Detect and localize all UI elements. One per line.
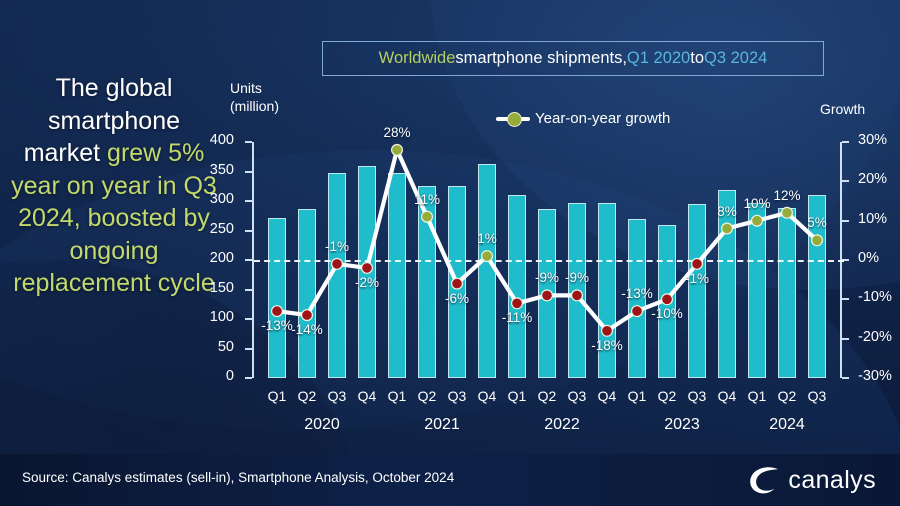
- legend-label: Year-on-year growth: [535, 110, 670, 127]
- y-tick-left: [245, 259, 252, 261]
- y-tick-label-left: 0: [188, 368, 234, 384]
- growth-point: [482, 251, 493, 262]
- chart-canvas: The global smartphone market grew 5% yea…: [0, 0, 900, 506]
- x-tick-label-quarter: Q4: [598, 388, 617, 404]
- x-tick-label-quarter: Q2: [538, 388, 557, 404]
- legend-line-marker-icon: [496, 117, 530, 121]
- canalys-wordmark: canalys: [788, 466, 876, 495]
- growth-point: [602, 325, 613, 336]
- y-tick-right: [842, 338, 849, 340]
- growth-data-label: -13%: [621, 286, 653, 301]
- growth-point: [362, 263, 373, 274]
- y-tick-label-left: 100: [188, 309, 234, 325]
- growth-point: [752, 215, 763, 226]
- y-tick-left: [245, 141, 252, 143]
- growth-data-label: -6%: [445, 291, 469, 306]
- x-tick-label-quarter: Q2: [658, 388, 677, 404]
- y-tick-label-left: 200: [188, 250, 234, 266]
- source-note: Source: Canalys estimates (sell-in), Sma…: [22, 470, 454, 485]
- y-tick-label-left: 300: [188, 191, 234, 207]
- plot-area: 050100150200250300350400 -30%-20%-10%0%1…: [262, 142, 832, 378]
- growth-point: [782, 207, 793, 218]
- y-tick-label-right: 10%: [858, 211, 900, 227]
- x-tick-label-quarter: Q3: [688, 388, 707, 404]
- x-axis-year-label: 2022: [544, 416, 580, 434]
- chart-legend: Year-on-year growth: [496, 110, 670, 127]
- x-tick-label-quarter: Q3: [328, 388, 347, 404]
- title-part-start-quarter: Q1 2020: [627, 49, 690, 68]
- canalys-logo: canalys: [747, 465, 876, 495]
- title-part-main: smartphone shipments,: [455, 49, 627, 68]
- title-part-worldwide: Worldwide: [379, 49, 456, 68]
- y-tick-left: [245, 289, 252, 291]
- y-tick-left: [245, 230, 252, 232]
- y-tick-label-left: 250: [188, 221, 234, 237]
- growth-data-label: -9%: [565, 270, 589, 285]
- x-tick-label-quarter: Q4: [358, 388, 377, 404]
- y-tick-label-right: 20%: [858, 171, 900, 187]
- x-tick-label-quarter: Q4: [718, 388, 737, 404]
- growth-point: [662, 294, 673, 305]
- x-tick-label-quarter: Q3: [448, 388, 467, 404]
- growth-data-label: 28%: [383, 125, 410, 140]
- x-axis-year-label: 2023: [664, 416, 700, 434]
- chart-title: Worldwide smartphone shipments, Q1 2020 …: [322, 41, 824, 76]
- x-axis-year-label: 2021: [424, 416, 460, 434]
- growth-point: [512, 298, 523, 309]
- growth-data-label: -2%: [355, 275, 379, 290]
- growth-point: [452, 278, 463, 289]
- growth-point: [272, 306, 283, 317]
- growth-data-label: -18%: [591, 338, 623, 353]
- units-line-1: Units: [230, 80, 279, 98]
- growth-data-label: 11%: [414, 192, 440, 207]
- x-tick-label-quarter: Q3: [568, 388, 587, 404]
- units-line-2: (million): [230, 98, 279, 116]
- growth-point: [332, 259, 343, 270]
- growth-point: [692, 259, 703, 270]
- growth-point: [812, 235, 823, 246]
- canalys-mark-icon: [747, 465, 781, 495]
- growth-data-label: -9%: [535, 270, 559, 285]
- x-tick-label-quarter: Q1: [748, 388, 767, 404]
- growth-point: [542, 290, 553, 301]
- y-tick-right: [842, 220, 849, 222]
- y-tick-label-right: -20%: [858, 329, 900, 345]
- y-tick-right: [842, 141, 849, 143]
- y-tick-label-left: 150: [188, 280, 234, 296]
- growth-point: [302, 310, 313, 321]
- x-axis-year-label: 2024: [769, 416, 805, 434]
- growth-point: [422, 211, 433, 222]
- x-tick-label-quarter: Q4: [478, 388, 497, 404]
- growth-polyline: [277, 150, 817, 331]
- growth-line-series: [262, 142, 832, 378]
- y-tick-right: [842, 377, 849, 379]
- x-tick-label-quarter: Q1: [508, 388, 527, 404]
- y-tick-label-right: 0%: [858, 250, 900, 266]
- y-tick-right: [842, 180, 849, 182]
- y-tick-label-right: -10%: [858, 289, 900, 305]
- y-axis-caption-right: Growth: [820, 101, 865, 117]
- growth-point: [722, 223, 733, 234]
- growth-data-label: 12%: [773, 188, 800, 203]
- y-tick-left: [245, 377, 252, 379]
- y-tick-left: [245, 171, 252, 173]
- growth-data-label: -14%: [291, 322, 323, 337]
- y-tick-left: [245, 348, 252, 350]
- x-tick-label-quarter: Q1: [628, 388, 647, 404]
- x-tick-label-quarter: Q2: [418, 388, 437, 404]
- x-tick-label-quarter: Q1: [268, 388, 287, 404]
- growth-point: [632, 306, 643, 317]
- growth-data-label: 5%: [807, 215, 827, 230]
- y-tick-label-right: -30%: [858, 368, 900, 384]
- growth-data-label: -1%: [325, 239, 349, 254]
- title-part-end-quarter: Q3 2024: [704, 49, 767, 68]
- title-part-to: to: [690, 49, 704, 68]
- y-tick-label-left: 50: [188, 339, 234, 355]
- y-tick-right: [842, 298, 849, 300]
- y-tick-left: [245, 200, 252, 202]
- y-axis-caption-left: Units (million): [230, 80, 279, 116]
- y-tick-label-left: 350: [188, 162, 234, 178]
- growth-data-label: -10%: [651, 306, 683, 321]
- growth-point: [392, 145, 403, 156]
- growth-data-label: 1%: [477, 231, 497, 246]
- x-tick-label-quarter: Q2: [778, 388, 797, 404]
- y-tick-label-left: 400: [188, 132, 234, 148]
- growth-data-label: -1%: [685, 271, 709, 286]
- growth-data-label: -11%: [502, 310, 533, 325]
- x-axis: Q1Q2Q3Q4Q1Q2Q3Q4Q1Q2Q3Q4Q1Q2Q3Q4Q1Q2Q320…: [262, 380, 832, 381]
- y-tick-left: [245, 318, 252, 320]
- x-axis-year-label: 2020: [304, 416, 340, 434]
- growth-data-label: -13%: [261, 318, 293, 333]
- x-tick-label-quarter: Q1: [388, 388, 407, 404]
- x-tick-label-quarter: Q3: [808, 388, 827, 404]
- growth-data-label: 8%: [717, 204, 737, 219]
- x-tick-label-quarter: Q2: [298, 388, 317, 404]
- footer-bar: Source: Canalys estimates (sell-in), Sma…: [0, 454, 900, 506]
- y-tick-label-right: 30%: [858, 132, 900, 148]
- growth-point: [572, 290, 583, 301]
- growth-data-label: 10%: [743, 196, 770, 211]
